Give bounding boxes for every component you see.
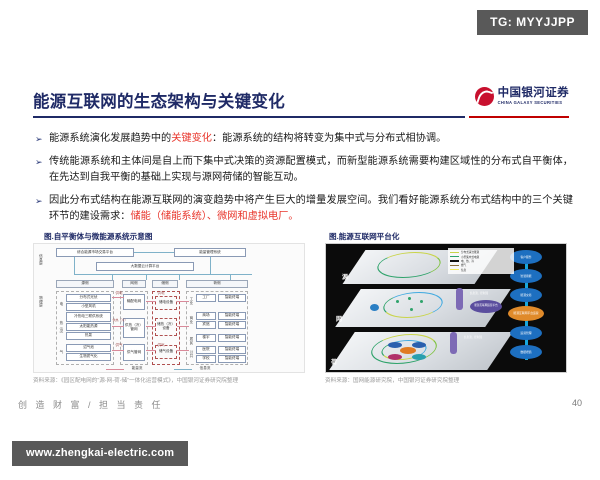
energy-type-gas: 气 (58, 344, 64, 360)
figure-source-right: 资料来源：国网能源研究院，中国银河证券研究院整理 (325, 378, 595, 386)
connector-line (74, 274, 252, 275)
footer-slogan: 创 造 财 富 / 担 当 责 任 (18, 398, 164, 411)
legend-label: 电、热、冷 (461, 259, 474, 263)
info-box-bigdata: 大数据云计算平台 (96, 262, 194, 271)
legend-swatch-electric (450, 260, 459, 261)
grid-gas: 供气管网 (123, 344, 145, 361)
flow-label-power: 供电 (112, 291, 126, 296)
storage-heat: 储热（冷）设备 (155, 318, 177, 336)
info-box-ems: 能量管理系统 (174, 248, 246, 257)
bullet-text: 能源系统演化发展趋势中的关键变化：能源系统的结构将转变为集中式与分布式相协调。 (49, 131, 573, 148)
logo-text: 中国银河证券 CHINA GALAXY SECURITIES (498, 88, 569, 106)
bullet-marker-icon: ➢ (33, 131, 49, 148)
company-logo: 中国银河证券 CHINA GALAXY SECURITIES (475, 87, 569, 106)
legend-swatch-info (174, 369, 192, 370)
node-dot (396, 300, 399, 303)
flow-label-gas: 供气 (112, 343, 126, 348)
bullet-text-pre: 因此分布式结构在能源互联网的演变趋势中将产生巨大的增量发展空间。我们看好能源系统… (49, 195, 573, 223)
load-terminal-tag: 智能终端 (218, 355, 246, 363)
title-rule-red (469, 116, 569, 118)
bullet-text-highlight: 储能（储能系统）、微网和虚拟电厂。 (131, 211, 299, 222)
column-header-grid: 网侧 (122, 280, 146, 288)
energy-flow-line (112, 297, 124, 298)
energy-type-heat: 热（冷） (58, 316, 64, 340)
bullet-text-pre: 传统能源系统和主体间是自上而下集中式决策的资源配置模式，而新型能源系统需要构建区… (49, 156, 573, 184)
layer-label-info: 信息层 (37, 248, 44, 270)
chain-node: 能源交易 (510, 288, 542, 302)
source-biomass: 生物质气化 (66, 353, 111, 361)
source-wind: 小型风机 (66, 303, 111, 311)
bullet-text-pre: 能源系统演化发展趋势中的 (49, 133, 171, 144)
title-rule-blue (33, 116, 465, 118)
right-legend: 分布式清洁能源 小型集中式电源 电、热、冷 燃气 信息 (448, 248, 514, 274)
energy-flow-line (146, 326, 156, 327)
load-terminal-tag: 智能终端 (218, 312, 246, 320)
connector-line (210, 257, 211, 275)
pillar-grid (456, 288, 463, 310)
source-heatpump: 热泵 (66, 332, 111, 340)
logo-name-cn: 中国银河证券 (498, 88, 569, 100)
figure-right-diagram: 源 网 荷 能源互联网运营平台 信息流、控制流 信息流、控制流 客户服务 智慧用… (325, 243, 567, 373)
load-terminal-tag: 智能终端 (218, 321, 246, 329)
load-node-center (400, 347, 416, 354)
hub-platform: 能源互联网运营平台 (470, 300, 502, 313)
plane-label-load: 荷 (331, 357, 337, 366)
node-dot (410, 308, 413, 311)
bullet-text: 因此分布式结构在能源互联网的演变趋势中将产生巨大的增量发展空间。我们看好能源系统… (49, 193, 573, 226)
chain-node: 智慧用能 (510, 269, 542, 283)
energy-flow-line (177, 301, 189, 302)
flow-label-power-2: 供电 (154, 291, 168, 296)
page-number: 40 (572, 398, 582, 408)
flow-label-heat: 供热（冷） (112, 318, 128, 323)
energy-flow-line (177, 350, 189, 351)
bullet-list: ➢ 能源系统演化发展趋势中的关键变化：能源系统的结构将转变为集中式与分布式相协调… (33, 131, 573, 232)
tg-watermark: TG: MYYJJPP (477, 10, 588, 35)
legend-label-info: 信息流 (194, 366, 216, 372)
hub-flow-label: 信息流、控制流 (464, 292, 494, 296)
connector-line (146, 274, 147, 280)
chain-node: 客户服务 (510, 250, 542, 264)
legend-swatch-energy (106, 369, 124, 370)
legend-label: 小型集中式电源 (461, 255, 479, 259)
column-header-storage: 储侧 (152, 280, 178, 288)
load-group-public: 公共 (188, 346, 194, 362)
energy-flow-line (146, 301, 156, 302)
legend-swatch-central (450, 256, 459, 257)
source-biogas: 沼气池 (66, 344, 111, 352)
legend-swatch-distributed (450, 252, 459, 253)
bullet-marker-icon: ➢ (33, 193, 49, 210)
hub-flow-label-2: 信息流、控制流 (458, 336, 488, 340)
source-pv: 分布式光伏 (66, 294, 111, 302)
plane-label-source: 源 (342, 272, 348, 281)
connector-line (74, 257, 75, 275)
slide: TG: MYYJJPP 能源互联网的生态架构与关键变化 中国银河证券 CHINA… (0, 0, 600, 480)
load-terminal-tag: 智能终端 (218, 294, 246, 302)
logo-name-en: CHINA GALAXY SECURITIES (498, 101, 569, 105)
page-title: 能源互联网的生态架构与关键变化 (33, 88, 285, 112)
load-terminal-tag: 智能终端 (218, 346, 246, 354)
source-solar-thermal: 太阳能热源 (66, 323, 111, 331)
figure-caption-right: 图.能源互联网平台化 (329, 231, 399, 242)
legend-label-energy: 能量流 (126, 366, 148, 372)
load-building: 楼宇 (196, 334, 216, 342)
node-dot (420, 300, 423, 303)
legend-swatch-info (450, 269, 459, 270)
connector-line (179, 274, 180, 280)
energy-flow-line (112, 350, 124, 351)
load-hotel: 宾馆 (196, 321, 216, 329)
flow-label-gas-2: 供气 (154, 343, 168, 348)
connector-line (134, 252, 174, 253)
load-mall: 商场 (196, 312, 216, 320)
bullet-marker-icon: ➢ (33, 154, 49, 171)
title-block: 能源互联网的生态架构与关键变化 中国银河证券 CHINA GALAXY SECU… (33, 88, 569, 122)
source-cchp: 冷热电三联供系统 (66, 312, 111, 322)
bullet-text-highlight: 关键变化 (171, 133, 212, 144)
layer-label-physical: 物理层 (37, 288, 44, 314)
figure-caption-left: 图.自平衡体与微能源系统示意图 (44, 231, 152, 242)
load-node (412, 342, 426, 348)
bullet-item: ➢ 能源系统演化发展趋势中的关键变化：能源系统的结构将转变为集中式与分布式相协调… (33, 131, 573, 148)
grid-distribution: 输配电网 (123, 294, 145, 310)
node-substation (370, 304, 379, 311)
figure-source-left: 资料来源：《园区配电网的“源-网-荷-储”一体化运营模式》，中国银河证券研究院整… (33, 378, 303, 386)
plane-label-grid: 网 (336, 314, 342, 323)
figure-left-diagram: 信息层 物理层 综合能源市场交易平台 能量管理系统 大数据云计算平台 源侧 网侧… (33, 243, 305, 373)
pillar-load (450, 332, 457, 354)
legend-label: 燃气 (461, 263, 466, 267)
load-node (412, 354, 426, 360)
load-node (388, 354, 402, 360)
chain-node-highlight: 能源互联网平台运营 (508, 306, 544, 321)
legend-item: 信息 (450, 268, 512, 272)
column-header-source: 源侧 (56, 280, 114, 288)
storage-electric: 储电设备 (155, 296, 177, 310)
load-terminal-tag: 智能终端 (218, 334, 246, 342)
bullet-text-post: ：能源系统的结构将转变为集中式与分布式相协调。 (212, 133, 446, 144)
energy-flow-line (177, 326, 189, 327)
legend-swatch-gas (450, 265, 459, 266)
info-box-market: 综合能源市场交易平台 (56, 248, 134, 257)
node-dot (408, 297, 411, 300)
load-node (388, 342, 402, 348)
bullet-text: 传统能源系统和主体间是自上而下集中式决策的资源配置模式，而新型能源系统需要构建区… (49, 154, 573, 187)
chain-node: 运营管理 (510, 326, 542, 340)
energy-flow-line (146, 350, 156, 351)
bottom-watermark-bar: www.zhengkai-electric.com (12, 441, 188, 466)
bullet-item: ➢ 因此分布式结构在能源互联网的演变趋势中将产生巨大的增量发展空间。我们看好能源… (33, 193, 573, 226)
load-school: 学校 (196, 355, 216, 363)
bullet-item: ➢ 传统能源系统和主体间是自上而下集中式决策的资源配置模式，而新型能源系统需要构… (33, 154, 573, 187)
load-factory: 工厂 (196, 294, 216, 302)
energy-type-electric: 电 (58, 294, 64, 314)
energy-flow-line (112, 326, 124, 327)
chain-node: 数据增值 (510, 345, 542, 359)
legend-label: 分布式清洁能源 (461, 250, 479, 254)
load-hospital: 医院 (196, 346, 216, 354)
galaxy-swirl-icon (475, 87, 494, 106)
column-header-load: 荷侧 (186, 280, 248, 288)
legend-label: 信息 (461, 268, 466, 272)
